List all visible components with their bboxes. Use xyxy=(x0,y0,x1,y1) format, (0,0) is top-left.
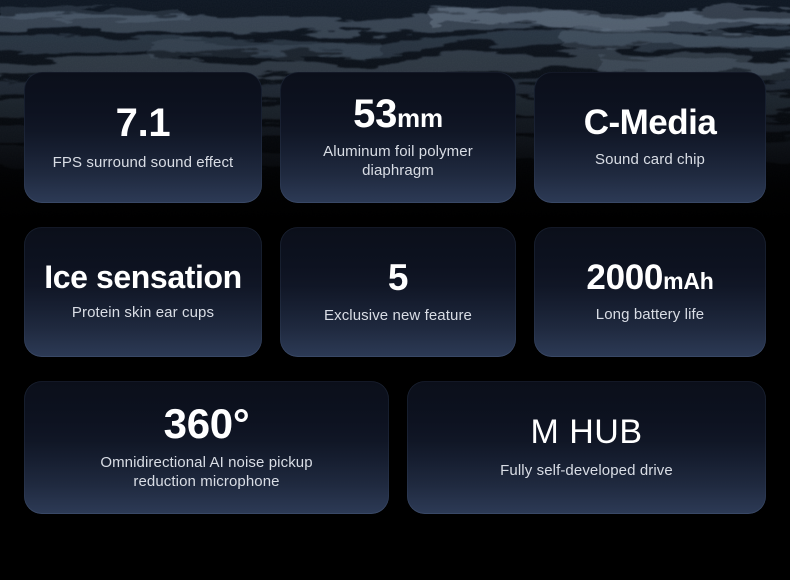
spec-card-diaphragm[interactable]: 53mm Aluminum foil polymer diaphragm xyxy=(280,72,516,203)
spec-headline: C-Media xyxy=(584,105,717,140)
spec-card-surround-sound[interactable]: 7.1 FPS surround sound effect xyxy=(24,72,262,203)
spec-card-microphone[interactable]: 360° Omnidirectional AI noise pickup red… xyxy=(24,381,389,514)
spec-headline: 5 xyxy=(388,259,408,296)
spec-subtitle: Aluminum foil polymer diaphragm xyxy=(313,143,483,181)
spec-headline: 53mm xyxy=(353,94,443,134)
spec-row-2: Ice sensation Protein skin ear cups 5 Ex… xyxy=(24,227,766,357)
spec-card-grid: 7.1 FPS surround sound effect 53mm Alumi… xyxy=(24,72,766,538)
spec-subtitle: Omnidirectional AI noise pickup reductio… xyxy=(90,454,322,492)
spec-row-3: 360° Omnidirectional AI noise pickup red… xyxy=(24,381,766,514)
spec-headline: 2000mAh xyxy=(586,260,713,295)
spec-headline-value: 360° xyxy=(164,403,250,445)
spec-subtitle: FPS surround sound effect xyxy=(43,154,244,173)
spec-subtitle: Exclusive new feature xyxy=(314,307,482,326)
spec-headline-value: C-Media xyxy=(584,105,717,140)
spec-subtitle: Sound card chip xyxy=(585,151,715,170)
spec-subtitle: Protein skin ear cups xyxy=(62,304,224,323)
spec-headline-unit: mAh xyxy=(663,270,714,293)
spec-row-1: 7.1 FPS surround sound effect 53mm Alumi… xyxy=(24,72,766,203)
spec-headline: Ice sensation xyxy=(44,261,242,293)
spec-headline: 360° xyxy=(164,403,250,445)
product-spec-banner: 7.1 FPS surround sound effect 53mm Alumi… xyxy=(0,0,790,580)
spec-subtitle: Fully self-developed drive xyxy=(490,462,683,481)
spec-subtitle: Long battery life xyxy=(586,306,714,325)
spec-headline-value: 53 xyxy=(353,94,397,134)
spec-card-driver[interactable]: M HUB Fully self-developed drive xyxy=(407,381,766,514)
spec-card-sound-chip[interactable]: C-Media Sound card chip xyxy=(534,72,766,203)
spec-headline-value: 5 xyxy=(388,259,408,296)
spec-headline-value: M HUB xyxy=(530,415,642,449)
spec-headline: 7.1 xyxy=(116,103,171,143)
spec-card-battery[interactable]: 2000mAh Long battery life xyxy=(534,227,766,357)
spec-headline-value: 7.1 xyxy=(116,103,171,143)
spec-headline-value: Ice sensation xyxy=(44,261,242,293)
spec-headline: M HUB xyxy=(530,415,642,449)
spec-headline-value: 2000 xyxy=(586,260,663,295)
spec-headline-unit: mm xyxy=(397,105,443,131)
spec-card-ear-cups[interactable]: Ice sensation Protein skin ear cups xyxy=(24,227,262,357)
spec-card-new-features[interactable]: 5 Exclusive new feature xyxy=(280,227,516,357)
